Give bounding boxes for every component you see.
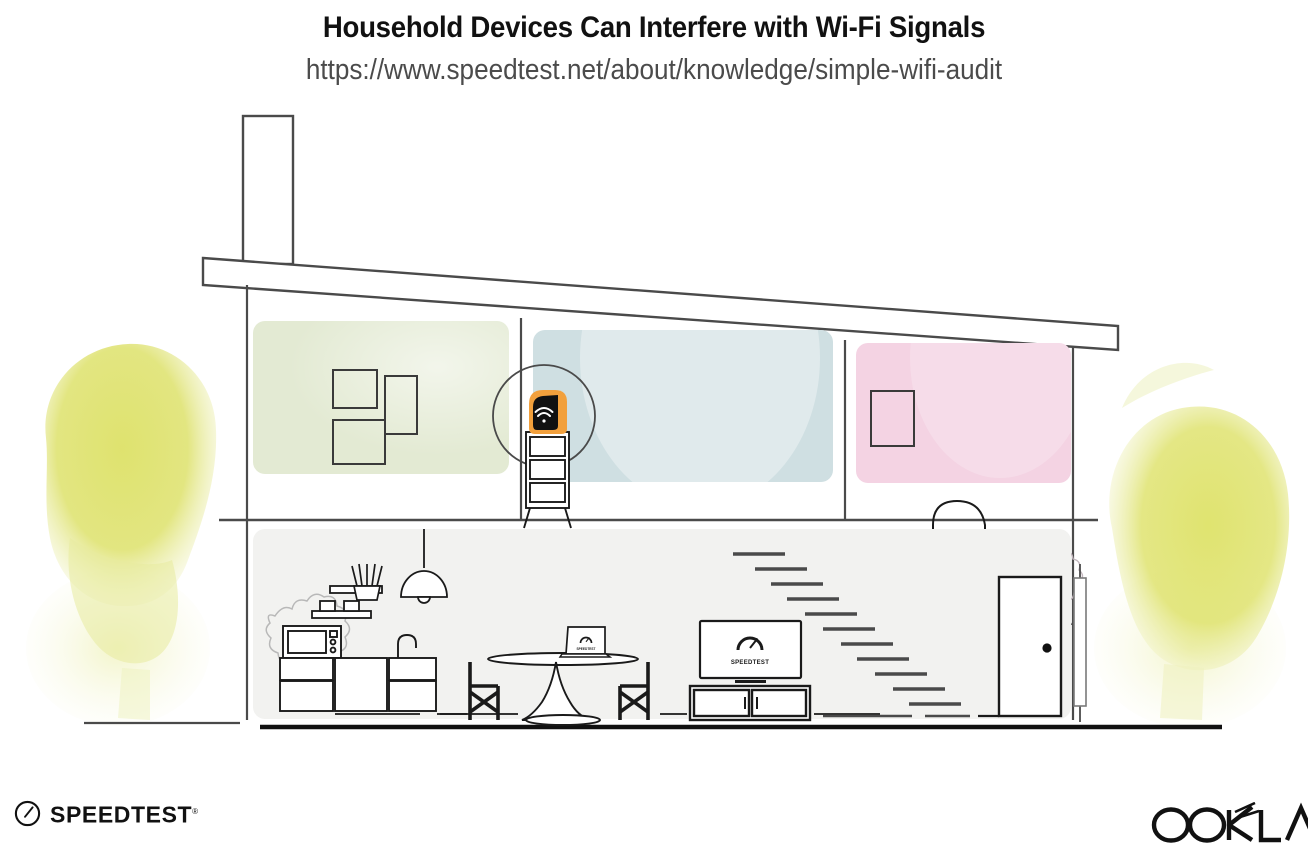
speedtest-wordmark: SPEEDTEST® [50, 800, 199, 827]
footer: SPEEDTEST® ' OOKLA [0, 780, 1308, 861]
tv-stand [690, 686, 810, 720]
house-cutaway-illustration: SPEEDTEST [0, 108, 1308, 748]
house-diagram-svg: SPEEDTEST [0, 108, 1308, 748]
laptop-screen-label: SPEEDTEST [577, 647, 596, 651]
television-speedtest: SPEEDTEST [700, 621, 801, 683]
microwave [283, 626, 341, 658]
page-url: https://www.speedtest.net/about/knowledg… [65, 52, 1242, 88]
laptop-speedtest: SPEEDTEST [560, 627, 610, 657]
speedtest-trademark: ® [192, 807, 199, 816]
foliage-left [26, 344, 216, 726]
sidelight-window [1074, 564, 1086, 722]
speedtest-logo[interactable]: SPEEDTEST® [14, 800, 199, 827]
speedometer-gauge-icon [14, 800, 41, 827]
door-knob-icon [1042, 643, 1051, 652]
ookla-wordmark-icon: ' [1149, 802, 1308, 846]
kitchen-cabinets [280, 658, 436, 711]
tv-screen-label: SPEEDTEST [731, 660, 769, 666]
page-title: Household Devices Can Interfere with Wi-… [52, 8, 1255, 48]
ookla-logo[interactable]: ' OOKLA [1149, 802, 1308, 846]
header: Household Devices Can Interfere with Wi-… [0, 0, 1308, 88]
dresser [524, 432, 571, 528]
wifi-router-icon[interactable] [529, 390, 567, 434]
foliage-right [1094, 363, 1289, 728]
chimney [243, 116, 293, 264]
roof-and-chimney [203, 116, 1118, 350]
speedtest-wordmark-text: SPEEDTEST [50, 802, 192, 828]
